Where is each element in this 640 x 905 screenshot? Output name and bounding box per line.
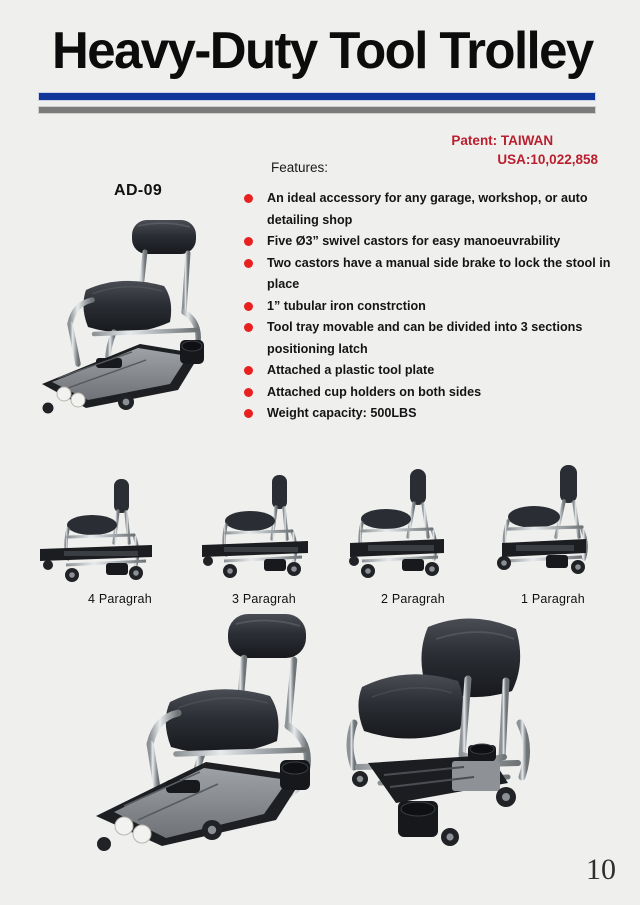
feature-text: Two castors have a manual side brake to … [267, 256, 610, 292]
features-heading: Features: [271, 160, 328, 175]
features-list: An ideal accessory for any garage, works… [241, 188, 637, 425]
feature-text: Five Ø3” swivel castors for easy manoeuv… [267, 234, 560, 248]
bullet-icon [244, 194, 253, 203]
thumbnail-caption-2: 2 Paragrah [381, 592, 445, 606]
feature-item: Attached cup holders on both sides [241, 382, 637, 404]
patent-block: Patent: TAIWAN USA:10,022,858 [451, 131, 598, 169]
feature-item: An ideal accessory for any garage, works… [241, 188, 637, 231]
bullet-icon [244, 388, 253, 397]
bullet-icon [244, 259, 253, 268]
bullet-icon [244, 409, 253, 418]
bullet-icon [244, 366, 253, 375]
product-photo-bottom-left [88, 608, 343, 863]
feature-item: Attached a plastic tool plate [241, 360, 637, 382]
feature-item: Five Ø3” swivel castors for easy manoeuv… [241, 231, 637, 253]
page-title: Heavy-Duty Tool Trolley [52, 20, 593, 82]
product-photo-bottom-right [340, 605, 572, 863]
feature-item: Tool tray movable and can be divided int… [241, 317, 637, 360]
feature-text: Attached cup holders on both sides [267, 385, 481, 399]
thumbnail-image-3 [188, 463, 328, 588]
header-rule-grey [38, 106, 596, 114]
thumbnail-caption-3: 3 Paragrah [232, 592, 296, 606]
thumbnail-row [0, 455, 640, 615]
patent-line-country: Patent: TAIWAN [451, 131, 598, 150]
thumbnail-image-1 [486, 455, 626, 580]
bullet-icon [244, 302, 253, 311]
catalog-page: Heavy-Duty Tool Trolley Patent: TAIWAN U… [0, 0, 640, 905]
bullet-icon [244, 237, 253, 246]
feature-text: 1” tubular iron constrction [267, 299, 426, 313]
bullet-icon [244, 323, 253, 332]
thumbnail-image-4 [34, 465, 174, 590]
header-rule-blue [38, 92, 596, 101]
feature-text: Weight capacity: 500LBS [267, 406, 417, 420]
model-number: AD-09 [114, 182, 162, 200]
thumbnail-caption-4: 4 Paragrah [88, 592, 152, 606]
thumbnail-image-2 [340, 461, 480, 586]
page-number: 10 [586, 853, 616, 887]
thumbnail-caption-1: 1 Paragrah [521, 592, 585, 606]
feature-item: Weight capacity: 500LBS [241, 403, 637, 425]
patent-line-usa: USA:10,022,858 [451, 150, 598, 169]
feature-text: Attached a plastic tool plate [267, 363, 434, 377]
feature-item: 1” tubular iron constrction [241, 296, 637, 318]
product-photo-main [28, 212, 228, 432]
feature-item: Two castors have a manual side brake to … [241, 253, 637, 296]
feature-text: Tool tray movable and can be divided int… [267, 320, 582, 356]
feature-text: An ideal accessory for any garage, works… [267, 191, 588, 227]
